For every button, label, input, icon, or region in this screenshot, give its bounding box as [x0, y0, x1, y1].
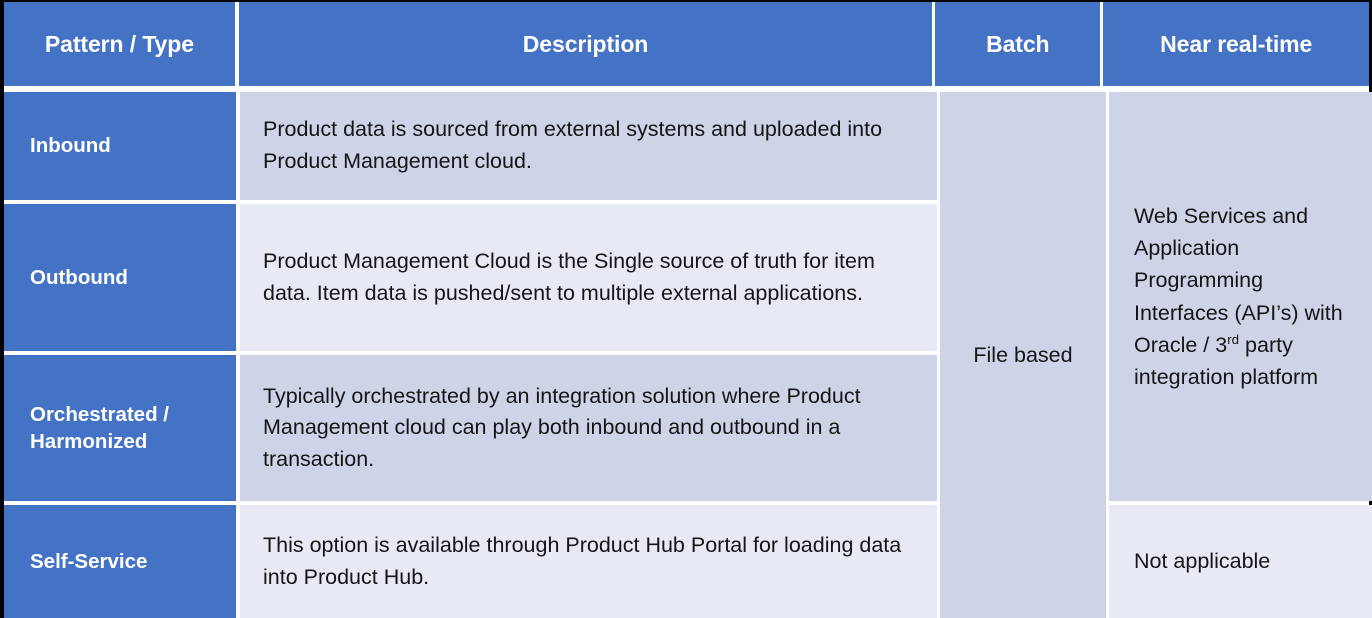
description-outbound: Product Management Cloud is the Single s…	[240, 204, 937, 351]
table-row: Outbound Product Management Cloud is the…	[4, 204, 937, 351]
pattern-description-columns: Inbound Product data is sourced from ext…	[4, 92, 937, 618]
table-row: Self-Service This option is available th…	[4, 505, 937, 618]
pattern-label-outbound: Outbound	[4, 204, 236, 351]
description-orchestrated-harmonized: Typically orchestrated by an integration…	[240, 355, 937, 501]
near-real-time-self-service-cell: Not applicable	[1109, 505, 1372, 618]
near-real-time-text: Web Services and Application Programming…	[1134, 200, 1362, 394]
pattern-label-orchestrated-harmonized: Orchestrated / Harmonized	[4, 355, 236, 501]
column-header-pattern-type: Pattern / Type	[4, 2, 235, 86]
column-header-near-real-time: Near real-time	[1103, 2, 1369, 86]
table-body: Inbound Product data is sourced from ext…	[4, 86, 1369, 618]
near-real-time-column: Web Services and Application Programming…	[1109, 92, 1372, 618]
column-header-batch: Batch	[935, 2, 1100, 86]
description-inbound: Product data is sourced from external sy…	[240, 92, 937, 200]
column-header-description: Description	[239, 2, 932, 86]
pattern-label-inbound: Inbound	[4, 92, 236, 200]
description-self-service: This option is available through Product…	[240, 505, 937, 618]
ordinal-superscript: rd	[1227, 332, 1239, 347]
batch-merged-cell: File based	[940, 92, 1106, 618]
pattern-label-self-service: Self-Service	[4, 505, 236, 618]
near-real-time-merged-cell: Web Services and Application Programming…	[1109, 92, 1372, 501]
integration-patterns-table: Pattern / Type Description Batch Near re…	[0, 0, 1372, 618]
table-row: Inbound Product data is sourced from ext…	[4, 92, 937, 200]
table-header-row: Pattern / Type Description Batch Near re…	[4, 2, 1369, 86]
table-row: Orchestrated / Harmonized Typically orch…	[4, 355, 937, 501]
